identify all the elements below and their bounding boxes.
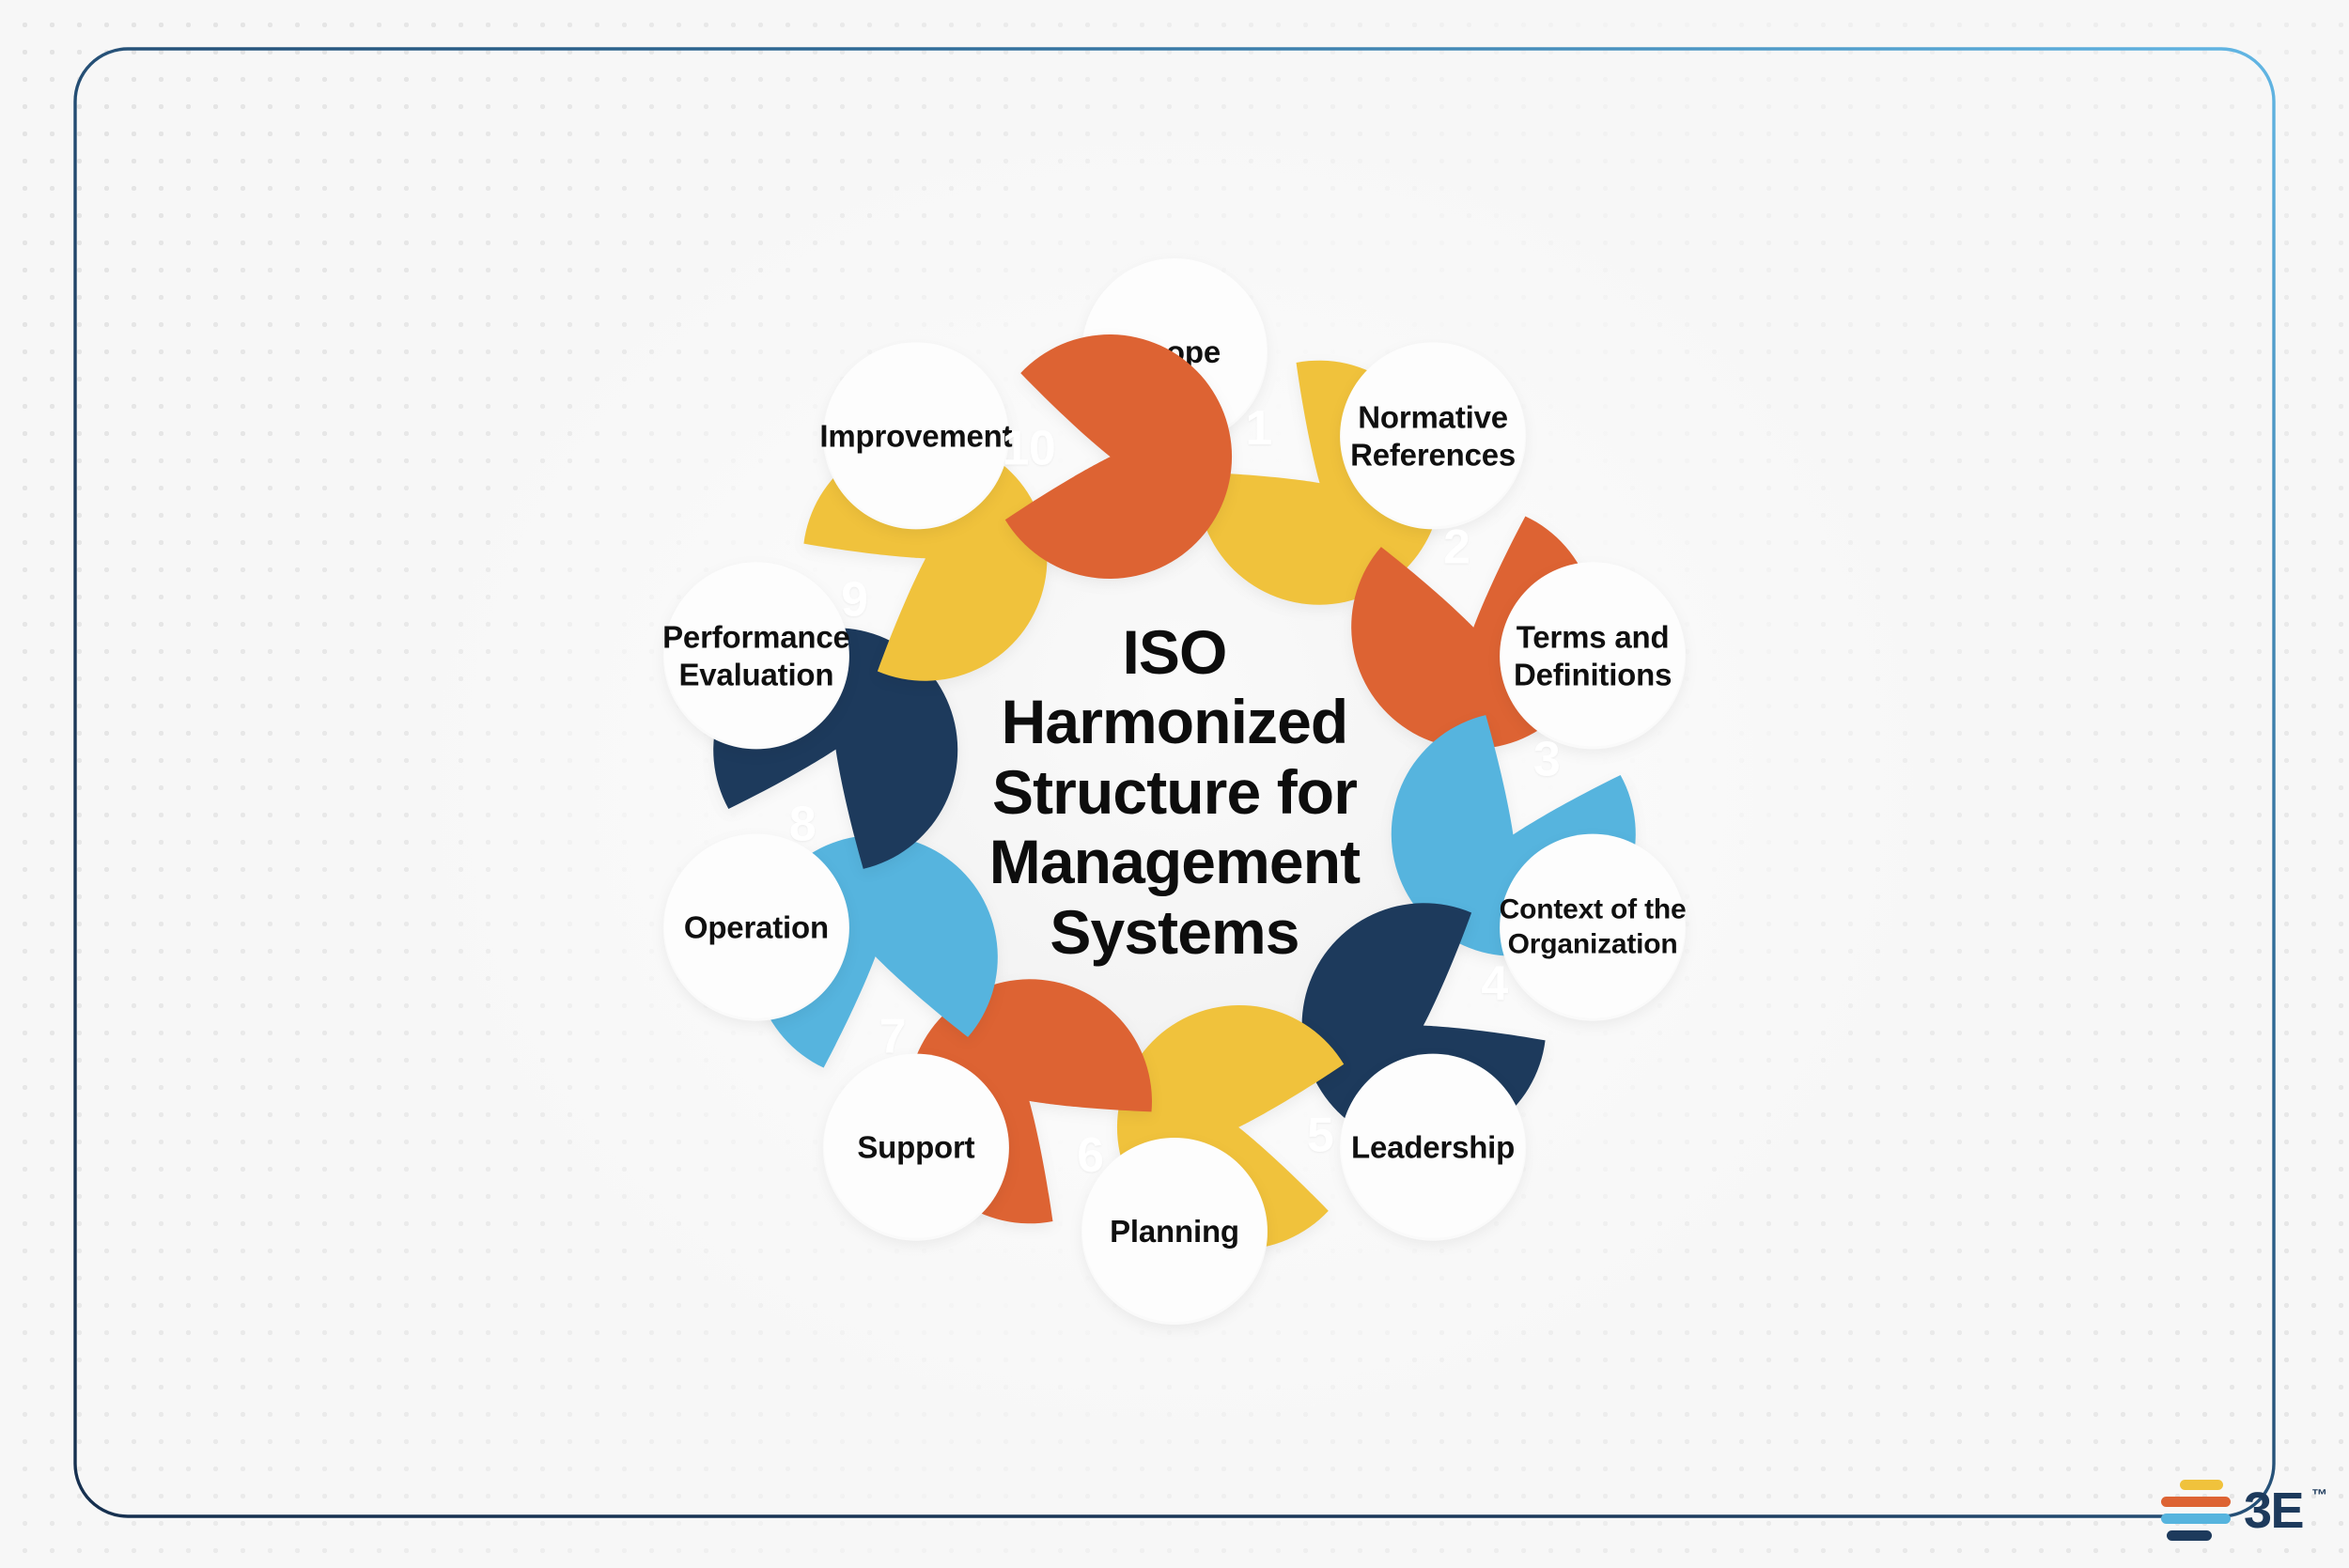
node-label-normative-references: Normative References	[1320, 323, 1546, 549]
node-number-4: 4	[1481, 960, 1507, 1009]
logo-text: 3E ™	[2244, 1485, 2303, 1536]
node-number-8: 8	[789, 800, 816, 848]
logo-wordmark: 3E	[2244, 1483, 2303, 1539]
trademark-symbol: ™	[2311, 1487, 2327, 1503]
node-label-context-of-the-organization: Context of the Organization	[1480, 815, 1705, 1041]
node-number-6: 6	[1077, 1131, 1103, 1180]
page-title: ISO Harmonized Structure for Management …	[893, 617, 1456, 968]
infographic-canvas: ISO Harmonized Structure for Management …	[0, 0, 2349, 1568]
node-label-support: Support	[803, 1035, 1029, 1261]
node-number-3: 3	[1533, 736, 1560, 784]
node-label-leadership: Leadership	[1320, 1035, 1546, 1261]
logo-bars-icon	[2161, 1480, 2231, 1541]
node-number-1: 1	[1245, 404, 1271, 453]
brand-logo: 3E ™	[2161, 1480, 2303, 1541]
node-label-terms-and-definitions: Terms and Definitions	[1480, 543, 1705, 768]
node-number-10: 10	[1002, 424, 1055, 473]
node-label-improvement: Improvement	[803, 323, 1029, 549]
node-label-operation: Operation	[644, 815, 869, 1041]
node-label-performance-evaluation: Performance Evaluation	[644, 543, 869, 768]
node-number-9: 9	[841, 575, 867, 624]
